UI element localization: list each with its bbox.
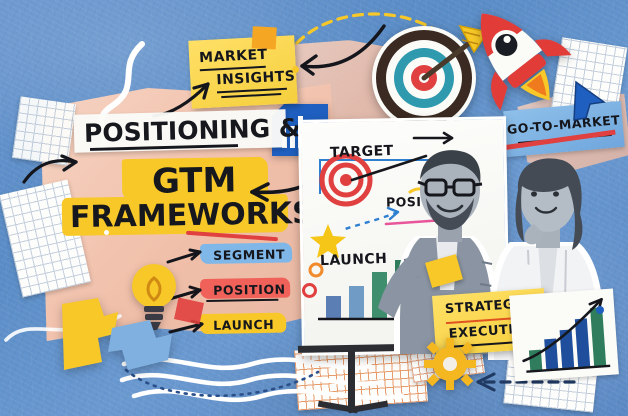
growth-chart-bars [526, 307, 606, 370]
headline-line-1: POSITIONING & [84, 113, 301, 148]
gear-icon [424, 338, 476, 390]
accent-dot-white [104, 230, 109, 235]
growth-chart [511, 291, 617, 382]
cursor-arrow-icon [570, 78, 610, 122]
step-chip-segment-label: SEGMENT [204, 244, 294, 265]
market-insights-line2: INSIGHTS [216, 68, 296, 88]
accent-dot-blue [596, 306, 604, 314]
whiteboard-stand-leg [348, 348, 355, 410]
accent-dot-red [302, 283, 317, 298]
whiteboard-label-target: TARGET [330, 143, 394, 161]
market-insights-line1: MARKET [199, 47, 268, 67]
accent-dot-orange [292, 66, 299, 73]
step-chip-launch-label: LAUNCH [204, 315, 283, 335]
rocket-icon [456, 0, 574, 114]
whiteboard-label-launch: LAUNCH [320, 251, 388, 269]
collage-canvas: GO-TO-MARKET MARKET INSIGHTS POSITIONING… [0, 0, 628, 416]
arrow-to-headline-left [22, 152, 82, 192]
step-chip-position-label: POSITION [204, 279, 295, 300]
market-insights-underline3 [221, 93, 281, 98]
puzzle-piece-icon [54, 290, 184, 386]
